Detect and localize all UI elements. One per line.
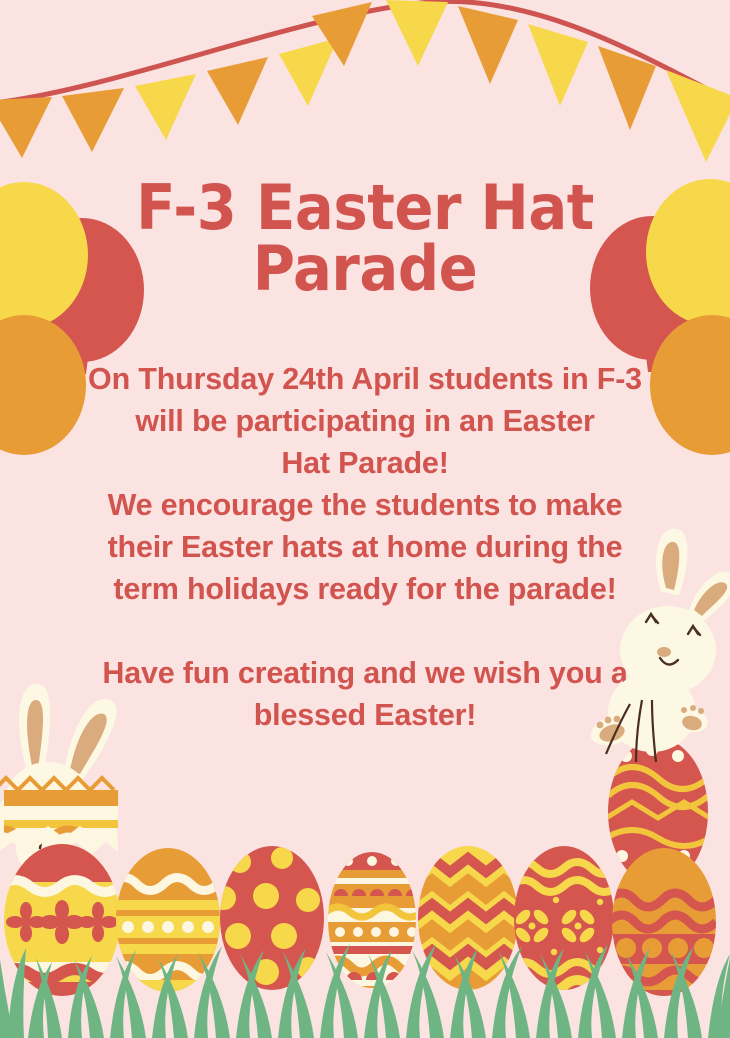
egg-shell-left	[0, 778, 124, 854]
bunny-right-nose	[657, 647, 671, 657]
easter-scene	[0, 0, 730, 1038]
easter-hat-parade-poster: F-3 Easter Hat Parade On Thursday 24th A…	[0, 0, 730, 1038]
bunny-right-group	[587, 530, 730, 886]
egg-polka-red	[210, 846, 324, 1013]
egg-row	[0, 844, 724, 1016]
egg-dots-orange	[608, 848, 724, 1010]
